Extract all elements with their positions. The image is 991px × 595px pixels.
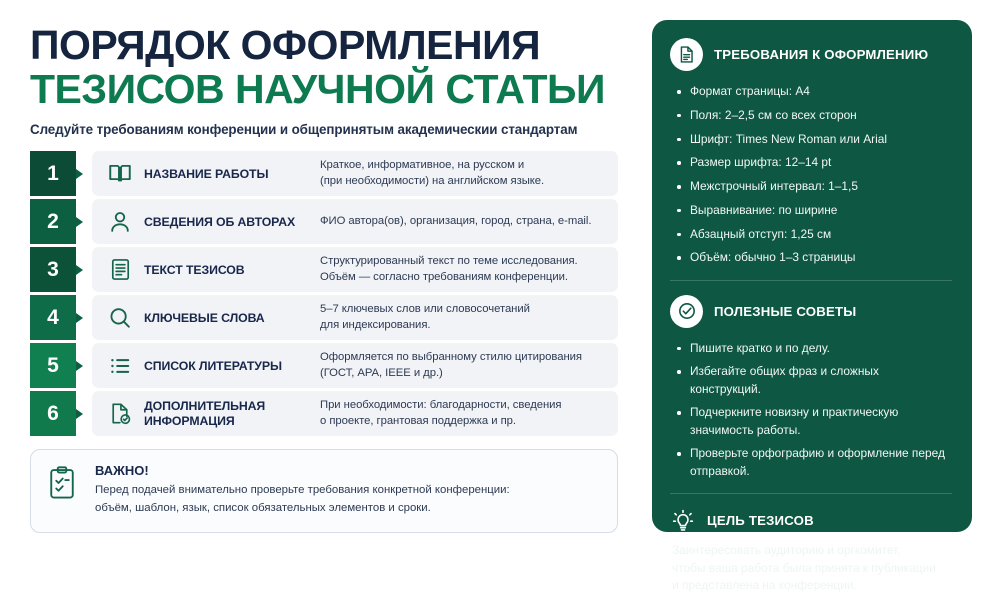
step-row: 1 НАЗВАНИЕ РАБОТЫ Краткое, bbox=[30, 151, 618, 196]
step-description-line: ФИО автора(ов), организация, город, стра… bbox=[320, 214, 606, 230]
tips-header: ПОЛЕЗНЫЕ СОВЕТЫ bbox=[670, 295, 952, 328]
tips-title: ПОЛЕЗНЫЕ СОВЕТЫ bbox=[714, 304, 856, 319]
important-text: Перед подачей внимательно проверьте треб… bbox=[95, 482, 510, 517]
list-item: Размер шрифта: 12–14 pt bbox=[676, 154, 952, 171]
step-number-badge: 2 bbox=[30, 199, 76, 244]
list-item: Абзацный отступ: 1,25 см bbox=[676, 226, 952, 243]
step-number-badge: 6 bbox=[30, 391, 76, 436]
important-content: ВАЖНО! Перед подачей внимательно проверь… bbox=[95, 463, 510, 517]
goal-text-line: чтобы ваша работа была принята к публика… bbox=[672, 560, 952, 578]
list-item: Избегайте общих фраз и сложных конструкц… bbox=[676, 363, 952, 398]
step-title-line: ДОПОЛНИТЕЛЬНАЯ bbox=[144, 399, 320, 414]
bullet-list-icon bbox=[102, 353, 138, 379]
step-row: 6 ДОПОЛНИТЕЛЬНАЯ ИНФОРМА bbox=[30, 391, 618, 436]
requirements-title: ТРЕБОВАНИЯ К ОФОРМЛЕНИЮ bbox=[714, 47, 928, 62]
step-title: ДОПОЛНИТЕЛЬНАЯ ИНФОРМАЦИЯ bbox=[138, 399, 320, 428]
step-title: ТЕКСТ ТЕЗИСОВ bbox=[138, 263, 320, 278]
goal-text: Заинтересовать аудиторию и оргкомитет, ч… bbox=[670, 542, 952, 595]
step-description: Структурированный текст по теме исследов… bbox=[320, 254, 606, 285]
title-line-2: ТЕЗИСОВ НАУЧНОЙ СТАТЬИ bbox=[30, 67, 652, 113]
step-number-badge: 3 bbox=[30, 247, 76, 292]
important-title: ВАЖНО! bbox=[95, 463, 510, 478]
step-number-badge: 4 bbox=[30, 295, 76, 340]
step-title-line: ИНФОРМАЦИЯ bbox=[144, 414, 320, 429]
section-divider bbox=[670, 493, 952, 494]
goal-text-line: и представлена на конференции. bbox=[672, 577, 952, 595]
list-item: Объём: обычно 1–3 страницы bbox=[676, 249, 952, 266]
step-body: СПИСОК ЛИТЕРАТУРЫ Оформляется по выбранн… bbox=[92, 343, 618, 388]
right-panel: ТРЕБОВАНИЯ К ОФОРМЛЕНИЮ Формат страницы:… bbox=[652, 20, 972, 532]
document-check-icon bbox=[102, 401, 138, 426]
important-text-line: Перед подачей внимательно проверьте треб… bbox=[95, 482, 510, 500]
step-description-line: (ГОСТ, APA, IEEE и др.) bbox=[320, 366, 606, 382]
step-number-badge: 5 bbox=[30, 343, 76, 388]
list-item: Поля: 2–2,5 см со всех сторон bbox=[676, 107, 952, 124]
page-subtitle: Следуйте требованиям конференции и общеп… bbox=[30, 122, 652, 137]
person-icon bbox=[102, 209, 138, 235]
check-circle-icon bbox=[670, 295, 703, 328]
step-arrow-icon bbox=[76, 199, 92, 244]
step-description: Краткое, информативное, на русском и (пр… bbox=[320, 158, 606, 189]
goal-header: ЦЕЛЬ ТЕЗИСОВ bbox=[670, 508, 952, 534]
step-description-line: Краткое, информативное, на русском и bbox=[320, 158, 606, 174]
list-item: Пишите кратко и по делу. bbox=[676, 340, 952, 357]
step-title: КЛЮЧЕВЫЕ СЛОВА bbox=[138, 311, 320, 326]
step-number-badge: 1 bbox=[30, 151, 76, 196]
step-row: 4 КЛЮЧЕВЫЕ СЛОВА 5–7 ключевых слов или с… bbox=[30, 295, 618, 340]
list-item: Проверьте орфографию и оформление перед … bbox=[676, 445, 952, 480]
step-row: 3 ТЕКСТ ТЕЗИСОВ Структурир bbox=[30, 247, 618, 292]
page-title: ПОРЯДОК ОФОРМЛЕНИЯ ТЕЗИСОВ НАУЧНОЙ СТАТЬ… bbox=[30, 24, 652, 137]
list-item: Шрифт: Times New Roman или Arial bbox=[676, 131, 952, 148]
step-description: ФИО автора(ов), организация, город, стра… bbox=[320, 214, 606, 230]
step-description-line: При необходимости: благодарности, сведен… bbox=[320, 398, 606, 414]
left-column: ПОРЯДОК ОФОРМЛЕНИЯ ТЕЗИСОВ НАУЧНОЙ СТАТЬ… bbox=[0, 0, 652, 552]
goal-title: ЦЕЛЬ ТЕЗИСОВ bbox=[707, 513, 814, 528]
document-lines-icon bbox=[102, 257, 138, 282]
step-arrow-icon bbox=[76, 151, 92, 196]
step-title: СПИСОК ЛИТЕРАТУРЫ bbox=[138, 359, 320, 374]
list-item: Подчеркните новизну и практическую значи… bbox=[676, 404, 952, 439]
step-row: 5 СПИСОК ЛИТЕРАТУРЫ bbox=[30, 343, 618, 388]
step-title: НАЗВАНИЕ РАБОТЫ bbox=[138, 167, 320, 182]
step-description: Оформляется по выбранному стилю цитирова… bbox=[320, 350, 606, 381]
step-description: 5–7 ключевых слов или словосочетаний для… bbox=[320, 302, 606, 333]
step-description-line: 5–7 ключевых слов или словосочетаний bbox=[320, 302, 606, 318]
lightbulb-icon bbox=[670, 508, 698, 534]
step-description-line: Оформляется по выбранному стилю цитирова… bbox=[320, 350, 606, 366]
title-line-1: ПОРЯДОК ОФОРМЛЕНИЯ bbox=[30, 24, 652, 67]
step-description-line: о проекте, грантовая поддержка и пр. bbox=[320, 414, 606, 430]
step-description: При необходимости: благодарности, сведен… bbox=[320, 398, 606, 429]
step-body: КЛЮЧЕВЫЕ СЛОВА 5–7 ключевых слов или сло… bbox=[92, 295, 618, 340]
book-icon bbox=[102, 161, 138, 187]
step-body: ДОПОЛНИТЕЛЬНАЯ ИНФОРМАЦИЯ При необходимо… bbox=[92, 391, 618, 436]
step-body: НАЗВАНИЕ РАБОТЫ Краткое, информативное, … bbox=[92, 151, 618, 196]
step-description-line: для индексирования. bbox=[320, 318, 606, 334]
steps-list: 1 НАЗВАНИЕ РАБОТЫ Краткое, bbox=[30, 151, 618, 436]
goal-text-line: Заинтересовать аудиторию и оргкомитет, bbox=[672, 542, 952, 560]
clipboard-check-icon bbox=[47, 463, 95, 517]
list-item: Межстрочный интервал: 1–1,5 bbox=[676, 178, 952, 195]
step-arrow-icon bbox=[76, 247, 92, 292]
step-arrow-icon bbox=[76, 295, 92, 340]
document-page-icon bbox=[670, 38, 703, 71]
step-description-line: Объём — согласно требованиям конференции… bbox=[320, 270, 606, 286]
step-description-line: (при необходимости) на английском языке. bbox=[320, 174, 606, 190]
magnifier-icon bbox=[102, 305, 138, 331]
step-title: СВЕДЕНИЯ ОБ АВТОРАХ bbox=[138, 215, 320, 230]
list-item: Формат страницы: А4 bbox=[676, 83, 952, 100]
requirements-header: ТРЕБОВАНИЯ К ОФОРМЛЕНИЮ bbox=[670, 38, 952, 71]
step-description-line: Структурированный текст по теме исследов… bbox=[320, 254, 606, 270]
tips-list: Пишите кратко и по делу. Избегайте общих… bbox=[670, 340, 952, 480]
step-body: ТЕКСТ ТЕЗИСОВ Структурированный текст по… bbox=[92, 247, 618, 292]
step-body: СВЕДЕНИЯ ОБ АВТОРАХ ФИО автора(ов), орга… bbox=[92, 199, 618, 244]
infographic-page: ПОРЯДОК ОФОРМЛЕНИЯ ТЕЗИСОВ НАУЧНОЙ СТАТЬ… bbox=[0, 0, 991, 552]
list-item: Выравнивание: по ширине bbox=[676, 202, 952, 219]
section-divider bbox=[670, 280, 952, 281]
important-callout: ВАЖНО! Перед подачей внимательно проверь… bbox=[30, 449, 618, 532]
step-row: 2 СВЕДЕНИЯ ОБ АВТОРАХ ФИО автора(ов), ор… bbox=[30, 199, 618, 244]
important-text-line: объём, шаблон, язык, список обязательных… bbox=[95, 500, 510, 518]
step-arrow-icon bbox=[76, 343, 92, 388]
requirements-list: Формат страницы: А4 Поля: 2–2,5 см со вс… bbox=[670, 83, 952, 267]
step-arrow-icon bbox=[76, 391, 92, 436]
